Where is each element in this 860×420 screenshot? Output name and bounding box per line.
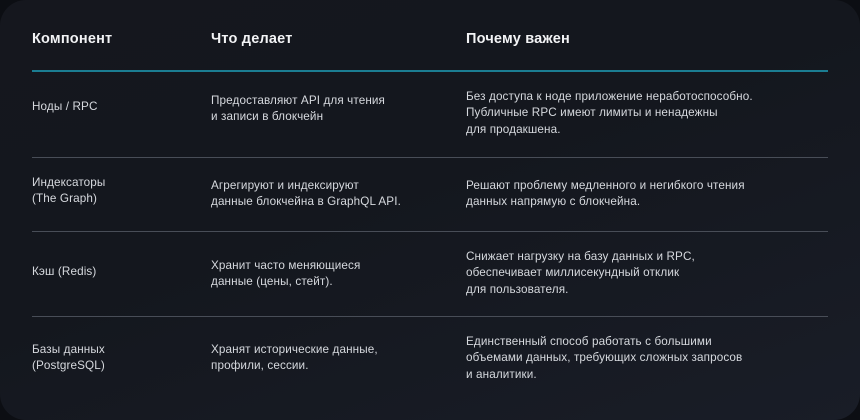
- cell-line: Публичные RPC имеют лимиты и ненадежны: [466, 105, 828, 121]
- cell-line: Кэш (Redis): [32, 264, 207, 280]
- column-header-component: Компонент: [32, 31, 112, 47]
- row-divider: [32, 231, 828, 232]
- cell-line: и записи в блокчейн: [211, 109, 461, 125]
- cell-line: для продакшена.: [466, 122, 828, 138]
- cell-line: Предоставляют API для чтения: [211, 93, 461, 109]
- row-divider: [32, 157, 828, 158]
- table-row: Базы данных (PostgreSQL) Хранят историче…: [32, 316, 828, 406]
- cell-what-it-does: Хранит часто меняющиеся данные (цены, ст…: [211, 258, 461, 291]
- row-divider: [32, 316, 828, 317]
- cell-what-it-does: Предоставляют API для чтения и записи в …: [211, 93, 461, 126]
- cell-component: Кэш (Redis): [32, 264, 207, 280]
- cell-line: данные (цены, стейт).: [211, 274, 461, 290]
- cell-line: Индексаторы: [32, 175, 207, 191]
- cell-line: и аналитики.: [466, 367, 828, 383]
- cell-why-important: Единственный способ работать с большими …: [466, 334, 828, 383]
- cell-line: Хранят исторические данные,: [211, 342, 461, 358]
- cell-line: данные блокчейна в GraphQL API.: [211, 194, 461, 210]
- cell-line: Единственный способ работать с большими: [466, 334, 828, 350]
- cell-why-important: Без доступа к ноде приложение неработосп…: [466, 89, 828, 138]
- cell-line: Хранит часто меняющиеся: [211, 258, 461, 274]
- table-header-row: Компонент Что делает Почему важен: [32, 31, 828, 55]
- cell-component: Индексаторы (The Graph): [32, 175, 207, 208]
- cell-line: профили, сессии.: [211, 358, 461, 374]
- comparison-table-card: Компонент Что делает Почему важен Ноды /…: [0, 0, 860, 420]
- cell-what-it-does: Агрегируют и индексируют данные блокчейн…: [211, 178, 461, 211]
- table-row: Ноды / RPC Предоставляют API для чтения …: [32, 71, 828, 157]
- cell-line: Ноды / RPC: [32, 99, 207, 115]
- cell-line: Снижает нагрузку на базу данных и RPC,: [466, 249, 828, 265]
- cell-line: (PostgreSQL): [32, 358, 207, 374]
- cell-line: (The Graph): [32, 191, 207, 207]
- cell-line: Без доступа к ноде приложение неработосп…: [466, 89, 828, 105]
- cell-component: Базы данных (PostgreSQL): [32, 342, 207, 375]
- cell-line: объемами данных, требующих сложных запро…: [466, 350, 828, 366]
- table-row: Кэш (Redis) Хранит часто меняющиеся данн…: [32, 231, 828, 316]
- cell-what-it-does: Хранят исторические данные, профили, сес…: [211, 342, 461, 375]
- cell-line: для пользователя.: [466, 282, 828, 298]
- column-header-why-important: Почему важен: [466, 31, 570, 47]
- cell-line: данных напрямую с блокчейна.: [466, 194, 828, 210]
- cell-component: Ноды / RPC: [32, 99, 207, 115]
- cell-why-important: Решают проблему медленного и негибкого ч…: [466, 178, 828, 211]
- cell-line: Базы данных: [32, 342, 207, 358]
- cell-line: Агрегируют и индексируют: [211, 178, 461, 194]
- cell-line: обеспечивает миллисекундный отклик: [466, 265, 828, 281]
- cell-line: Решают проблему медленного и негибкого ч…: [466, 178, 828, 194]
- column-header-what-it-does: Что делает: [211, 31, 293, 47]
- table-row: Индексаторы (The Graph) Агрегируют и инд…: [32, 157, 828, 231]
- cell-why-important: Снижает нагрузку на базу данных и RPC, о…: [466, 249, 828, 298]
